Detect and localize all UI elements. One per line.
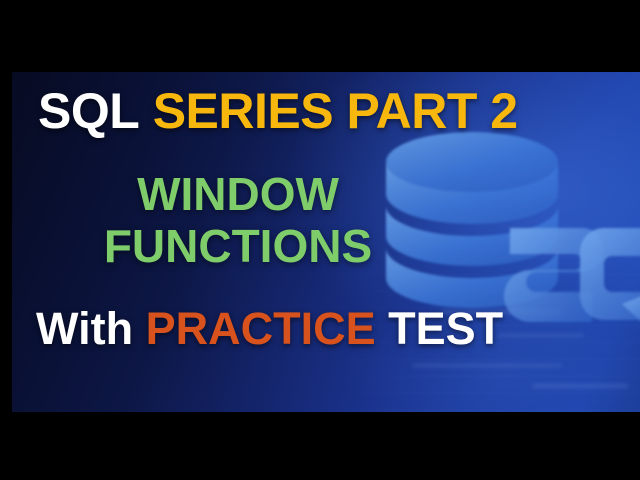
headline-series-part: SERIES PART 2 — [153, 83, 518, 139]
tagline-test: TEST — [388, 303, 503, 354]
headline-sql: SQL — [38, 83, 139, 139]
subject-title: WINDOW FUNCTIONS — [12, 168, 464, 273]
headline: SQL SERIES PART 2 — [38, 86, 518, 136]
tagline: With PRACTICE TEST — [36, 306, 503, 351]
subject-line-1: WINDOW — [12, 168, 464, 220]
tagline-practice: PRACTICE — [146, 303, 376, 354]
slide-canvas: SQL SERIES PART 2 WINDOW FUNCTIONS With … — [12, 72, 640, 412]
tagline-with: With — [36, 303, 133, 354]
thumbnail-frame: SQL SERIES PART 2 WINDOW FUNCTIONS With … — [0, 0, 640, 480]
subject-line-2: FUNCTIONS — [12, 220, 464, 272]
text-layer: SQL SERIES PART 2 WINDOW FUNCTIONS With … — [12, 72, 640, 412]
